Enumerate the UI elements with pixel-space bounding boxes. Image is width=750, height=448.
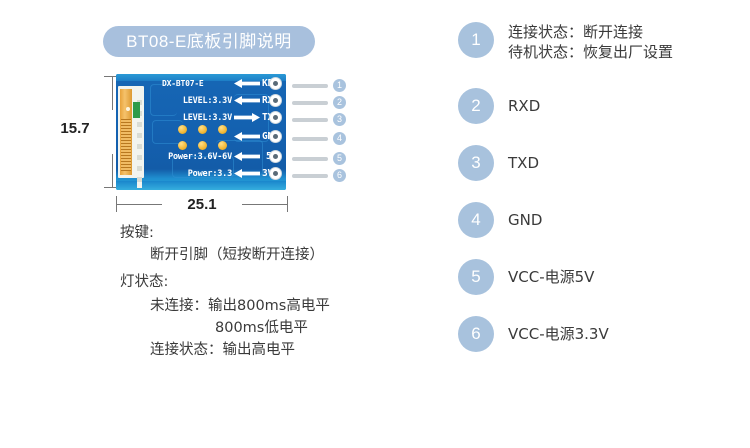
dimension-width: 25.1 (116, 196, 288, 218)
callout-leader-line (292, 137, 328, 141)
callout-leader-line (292, 157, 328, 161)
test-pad (218, 125, 227, 134)
dimension-width-line-right (236, 204, 288, 205)
pcb-row-note-5v: Power:3.6V-6V (132, 152, 232, 162)
legend-label-2: RXD (508, 88, 540, 124)
note-led-line-2: 800ms低电平 (215, 316, 308, 337)
dimension-height: 15.7 (88, 76, 118, 188)
page-title: BT08-E底板引脚说明 (103, 26, 315, 57)
test-pad (218, 141, 227, 150)
callout-number-6: 6 (333, 169, 346, 182)
through-hole-pad (270, 131, 281, 142)
pcb-row-note-rxd: LEVEL:3.3V (146, 96, 232, 106)
legend-number-4: 4 (458, 202, 494, 238)
legend-number-5: 5 (458, 259, 494, 295)
pcb-row-note-3v3: Power:3.3 (152, 169, 232, 179)
dimension-height-line-lower (112, 154, 113, 188)
arrow-right-icon (234, 113, 260, 122)
dimension-width-label: 25.1 (162, 196, 242, 213)
arrow-left-icon (234, 96, 260, 105)
through-hole-pad (270, 168, 281, 179)
fpc-connector-gold-tab (120, 89, 132, 175)
legend-number-6: 6 (458, 316, 494, 352)
callout-number-1: 1 (333, 79, 346, 92)
dimension-width-line-left (116, 204, 168, 205)
fpc-connector-marker-dot (126, 107, 130, 111)
callout-number-3: 3 (333, 113, 346, 126)
note-key-detail: 断开引脚（短按断开连接） (150, 243, 324, 264)
legend-label-1: 连接状态：断开连接 待机状态：恢复出厂设置 (508, 22, 673, 62)
fpc-connector-ridges (121, 119, 131, 171)
legend-label-6: VCC-电源3.3V (508, 316, 609, 352)
test-pad (178, 141, 187, 150)
dimension-height-label: 15.7 (40, 120, 110, 137)
note-led-line-1: 未连接：输出800ms高电平 (150, 294, 330, 315)
pcb-row-note-txd: LEVEL:3.3V (146, 113, 232, 123)
legend-number-3: 3 (458, 145, 494, 181)
legend-label-1-line2: 待机状态：恢复出厂设置 (508, 42, 673, 62)
callout-leader-line (292, 174, 328, 178)
legend-number-1: 1 (458, 22, 494, 58)
through-hole-pad (270, 95, 281, 106)
legend-number-2: 2 (458, 88, 494, 124)
green-component (133, 102, 140, 118)
pcb-board: DX-BT07-E LEVEL:3.3V LEVEL:3.3V Power:3.… (116, 74, 286, 190)
legend-label-1-line1: 连接状态：断开连接 (508, 22, 673, 42)
legend-label-3: TXD (508, 145, 539, 181)
dimension-height-line-upper (112, 76, 113, 110)
legend-label-4: GND (508, 202, 542, 238)
through-hole-pad (270, 78, 281, 89)
through-hole-pad (270, 112, 281, 123)
test-pad (198, 125, 207, 134)
callout-number-2: 2 (333, 96, 346, 109)
arrow-left-icon (234, 79, 260, 88)
pcb-part-number: DX-BT07-E (162, 79, 204, 88)
arrow-left-icon (234, 132, 260, 141)
callout-leader-line (292, 84, 328, 88)
test-pad (198, 141, 207, 150)
note-led-heading: 灯状态: (120, 270, 168, 291)
through-hole-pad (270, 151, 281, 162)
arrow-left-icon (234, 169, 260, 178)
test-pad (178, 125, 187, 134)
callout-leader-line (292, 101, 328, 105)
callout-leader-line (292, 118, 328, 122)
arrow-left-icon (234, 152, 260, 161)
test-pad-grid (178, 125, 236, 151)
legend-label-5: VCC-电源5V (508, 259, 594, 295)
callout-number-5: 5 (333, 152, 346, 165)
note-led-line-3: 连接状态：输出高电平 (150, 338, 295, 359)
note-key-heading: 按键: (120, 221, 154, 242)
callout-number-4: 4 (333, 132, 346, 145)
